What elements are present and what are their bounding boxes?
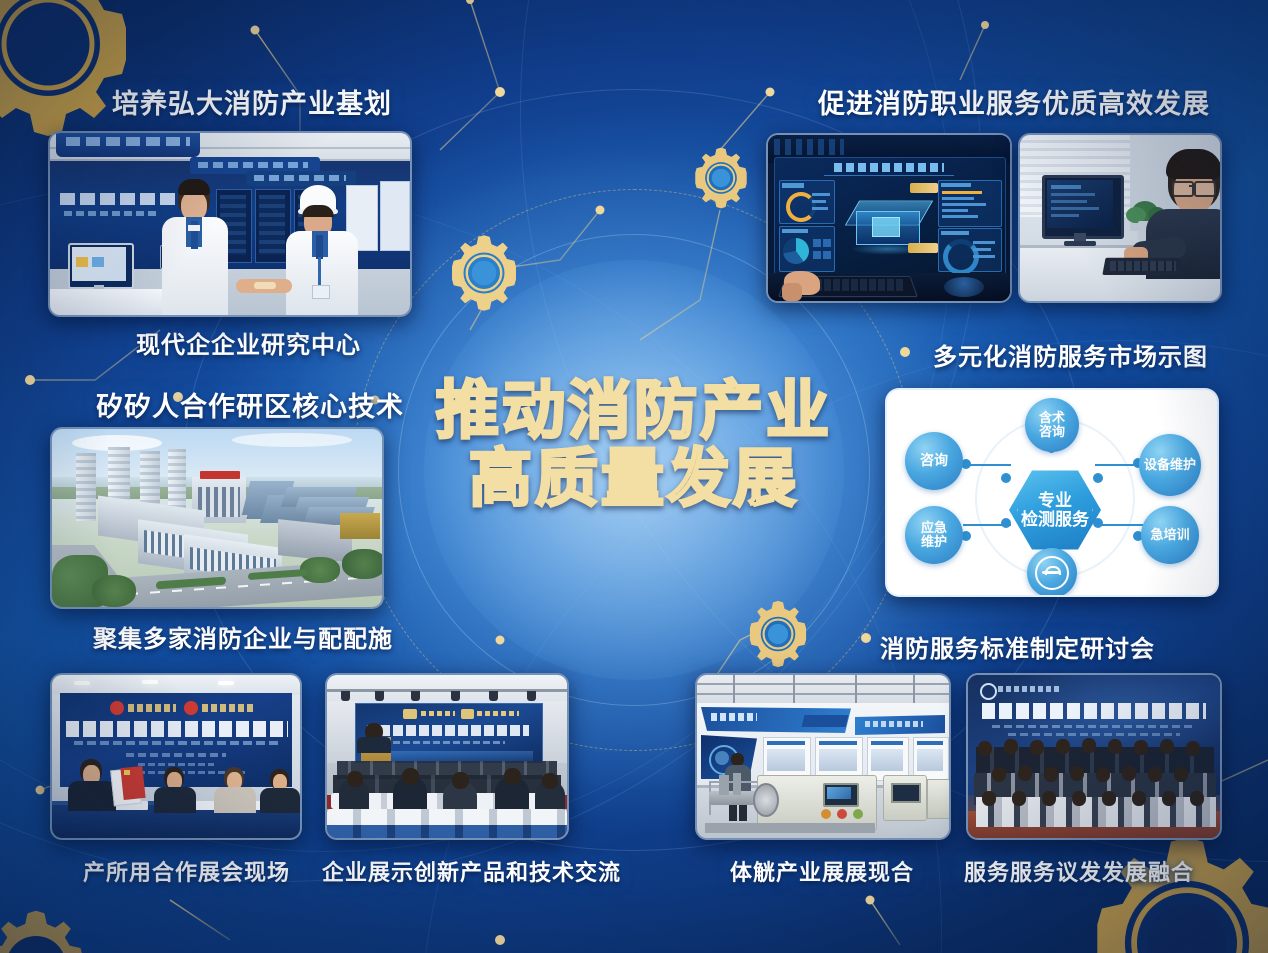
- heading-bottom-1: 产所用合作展会现场: [83, 855, 290, 887]
- photo-office-worker: [1018, 133, 1222, 303]
- hex-node-left[interactable]: 咨询: [905, 432, 963, 490]
- center-title-line2: 高质量发展: [436, 446, 832, 512]
- hex-node-bottom-right-label: 急培训: [1150, 528, 1189, 542]
- heading-top-right: 促进消防职业服务优质高效发展: [818, 82, 1210, 121]
- hex-dot-bottom-left-inner: [1001, 518, 1011, 528]
- helmet-icon: [1035, 556, 1069, 590]
- heading-bottom-3: 体觥产业展展现合: [730, 855, 914, 887]
- photo-industrial-park: [50, 427, 384, 609]
- hex-node-right[interactable]: 设备维护: [1139, 434, 1201, 496]
- heading-research-center: 现代企企业研究中心: [136, 325, 361, 360]
- photo-auditorium: [325, 673, 569, 840]
- photo-group-signing: [966, 673, 1222, 840]
- heading-standard-meeting: 消防服务标准制定研讨会: [880, 629, 1155, 664]
- hex-node-right-label: 设备维护: [1144, 458, 1196, 472]
- center-title-line1: 推动消防产业: [436, 378, 832, 444]
- hex-dot-right-inner: [1093, 473, 1103, 483]
- hex-node-top-line1: 含术: [1039, 411, 1065, 425]
- hex-node-top-line2: 咨询: [1039, 425, 1065, 439]
- hex-node-top[interactable]: 含术 咨询: [1025, 398, 1079, 452]
- heading-top-left: 培养弘大消防产业基划: [112, 82, 392, 121]
- heading-market-map: 多元化消防服务市场示图: [933, 337, 1208, 372]
- gear-icon: [0, 0, 148, 149]
- heading-core-tech: 矽矽人合作研区核心技术: [96, 385, 404, 424]
- photo-equipment-hall: [695, 673, 951, 840]
- heading-cluster: 聚集多家消防企业与配配施: [93, 619, 393, 654]
- hex-node-bottom-right[interactable]: 急培训: [1141, 506, 1199, 564]
- hex-node-left-label: 咨询: [920, 453, 948, 468]
- hex-node-bottom-icon[interactable]: [1027, 548, 1077, 597]
- hex-node-bottom-left-line1: 应急: [921, 521, 947, 535]
- hex-dot-left-inner: [1001, 473, 1011, 483]
- hex-service-diagram-panel: 专业 检测服务 含术 咨询 设备维护 急培训 应急 维护 咨询: [885, 388, 1219, 597]
- gear-icon: [0, 906, 96, 953]
- heading-bottom-4: 服务服务议发发展融合: [964, 855, 1194, 887]
- photo-exhibition-handshake: [48, 131, 412, 317]
- gear-icon: [1072, 828, 1268, 953]
- infographic-poster: 培养弘大消防产业基划 促进消防职业服务优质高效发展 现代企企业研究中心 矽矽人合…: [0, 0, 1268, 953]
- center-title: 推动消防产业 高质量发展: [436, 378, 832, 512]
- photo-press-conference: [50, 673, 302, 840]
- hex-node-bottom-left[interactable]: 应急 维护: [905, 506, 963, 564]
- photo-data-dashboard: [766, 133, 1012, 303]
- hex-node-bottom-left-line2: 维护: [921, 535, 947, 549]
- heading-bottom-2: 企业展示创新产品和技术交流: [322, 855, 621, 887]
